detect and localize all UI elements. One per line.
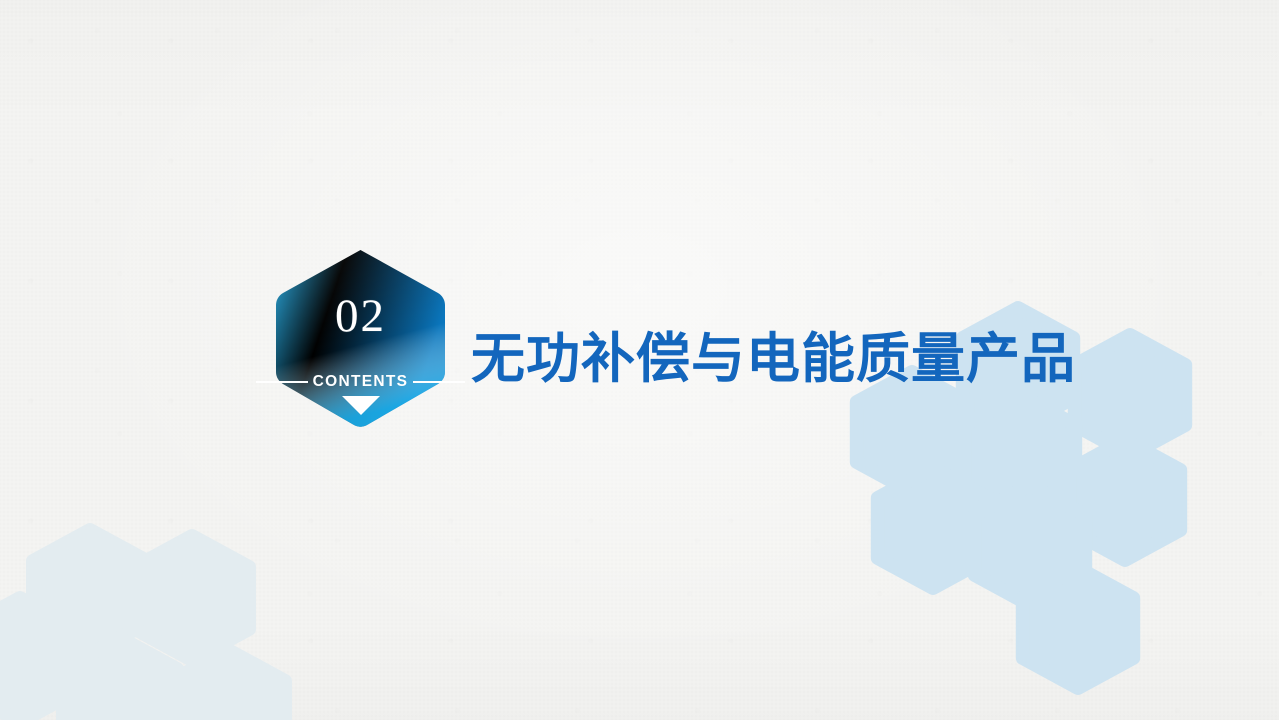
badge-number: 02 bbox=[270, 290, 451, 342]
hexagon-decoration bbox=[1075, 335, 1185, 455]
section-title: 无功补偿与电能质量产品 bbox=[471, 328, 1076, 390]
hexagon-decoration bbox=[975, 485, 1085, 605]
hexagon-decoration bbox=[171, 650, 285, 720]
triangle-down-icon bbox=[342, 396, 380, 415]
hexagon-decoration bbox=[878, 468, 988, 588]
slide-canvas: 02 CONTENTS 无功补偿与电能质量产品 bbox=[0, 0, 1279, 720]
section-number-badge: 02 CONTENTS bbox=[270, 248, 451, 429]
hexagon-decoration bbox=[1070, 440, 1180, 560]
badge-contents-label: CONTENTS bbox=[256, 371, 465, 392]
hexagon-decoration bbox=[33, 530, 147, 654]
hexagon-decoration bbox=[965, 395, 1075, 515]
hexagon-decoration bbox=[135, 536, 249, 660]
badge-contents-rule: CONTENTS bbox=[256, 371, 465, 392]
hexagon-decoration bbox=[1023, 568, 1133, 688]
hexagon-decoration bbox=[0, 598, 77, 720]
hexagon-decoration bbox=[63, 638, 177, 720]
